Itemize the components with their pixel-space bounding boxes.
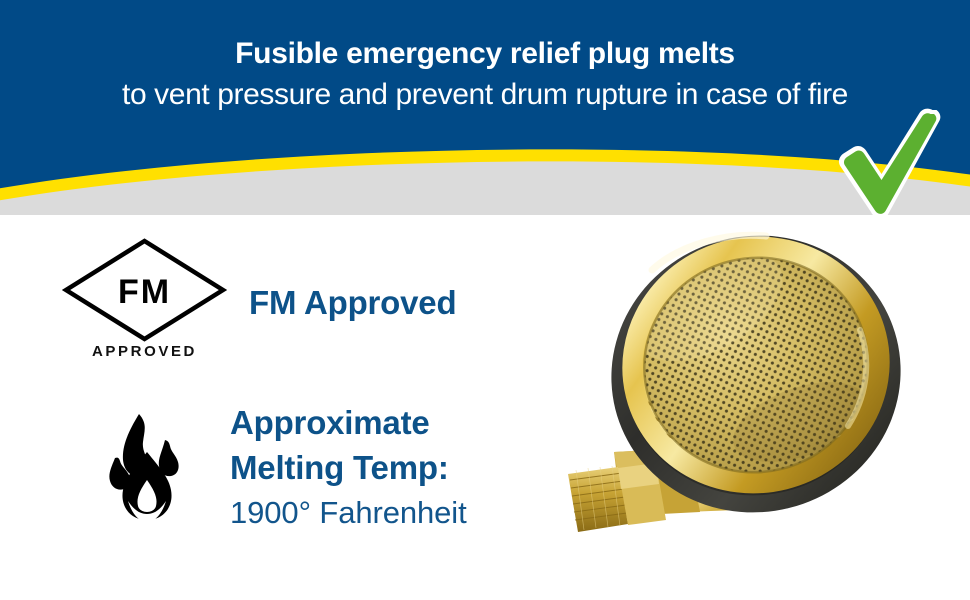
- brass-drum-vent-photo: [560, 212, 960, 592]
- feature-melting-temp: Approximate Melting Temp: 1900° Fahrenhe…: [92, 400, 467, 535]
- header-band: [0, 0, 970, 215]
- fm-diamond-letters: FM: [118, 273, 171, 311]
- melting-temp-text: Approximate Melting Temp: 1900° Fahrenhe…: [230, 400, 467, 535]
- melting-temp-line-2: Melting Temp:: [230, 445, 467, 490]
- flame-icon: [92, 408, 202, 528]
- knurled-cap: [568, 466, 628, 532]
- fm-diamond-icon: FM APPROVED: [62, 238, 227, 368]
- fm-approved-label: FM Approved: [249, 284, 456, 322]
- melting-temp-value: 1900° Fahrenheit: [230, 490, 467, 535]
- promo-banner: Fusible emergency relief plug melts to v…: [0, 0, 970, 600]
- feature-fm-approved: FM APPROVED FM Approved: [62, 238, 456, 368]
- green-check-icon: [836, 108, 944, 220]
- fm-approved-caption: APPROVED: [62, 342, 227, 362]
- melting-temp-line-1: Approximate: [230, 400, 467, 445]
